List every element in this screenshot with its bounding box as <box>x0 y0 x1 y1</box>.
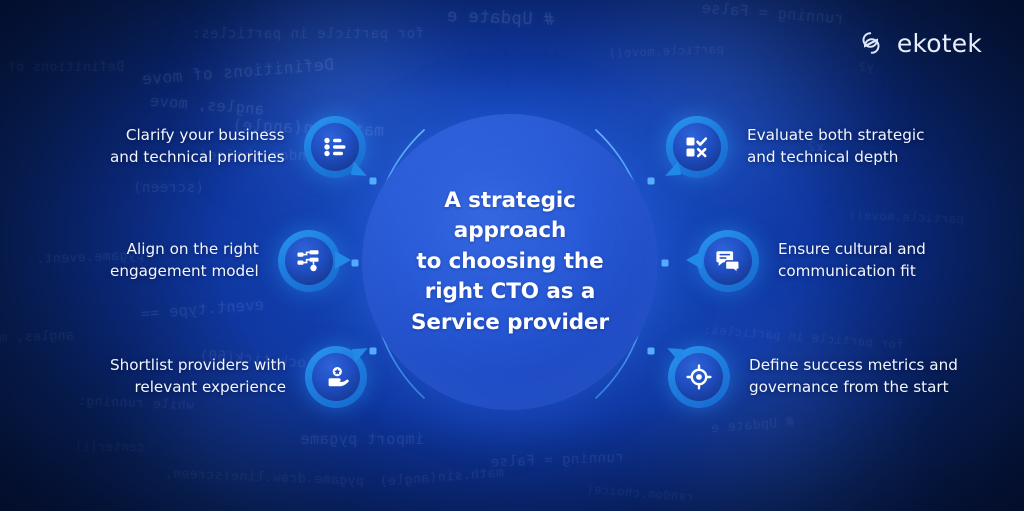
hub-title: A strategic approach to choosing the rig… <box>393 186 628 339</box>
code-fragment: random.choice( <box>585 482 694 504</box>
node-label-cultural-fit: Ensure cultural and communication fit <box>778 239 926 282</box>
badge-inner <box>285 237 333 285</box>
badge-inner <box>675 353 723 401</box>
code-fragment: center[i] <box>74 440 144 454</box>
code-fragment: angles, move <box>0 328 74 347</box>
brand-logo[interactable]: ekotek <box>856 28 982 58</box>
node-success-metrics[interactable]: Define success metrics and governance fr… <box>668 346 958 408</box>
node-label-clarify-priorities: Clarify your business and technical prio… <box>110 125 285 168</box>
code-fragment: import pygame <box>300 430 424 448</box>
badge-tail-left <box>686 251 702 269</box>
node-label-engagement-model: Align on the right engagement model <box>110 239 259 282</box>
code-fragment: particle.move() <box>608 42 724 60</box>
code-fragment: y2 <box>858 60 874 75</box>
center-hub: A strategic approach to choosing the rig… <box>362 114 658 410</box>
code-fragment: event.type == <box>140 295 265 322</box>
node-badge-success-metrics[interactable] <box>668 346 730 408</box>
badge-inner <box>311 123 359 171</box>
badge-tail-top-left <box>665 345 684 362</box>
hub-line-1: A strategic approach <box>393 186 628 247</box>
chat-bubbles-icon <box>715 248 741 274</box>
code-fragment: for particle in particles: <box>192 26 424 42</box>
code-fragment: Definitions of move <box>0 60 124 75</box>
badge-tail-top-right <box>352 345 371 362</box>
badge-tail-bottom-left <box>663 161 682 178</box>
code-fragment: running = False <box>490 449 624 470</box>
code-fragment: angles, move <box>149 92 264 119</box>
node-cultural-fit[interactable]: Ensure cultural and communication fit <box>697 230 926 292</box>
bullet-list-icon <box>322 134 348 160</box>
code-fragment: # Update e <box>710 415 794 436</box>
node-badge-shortlist-providers[interactable] <box>305 346 367 408</box>
badge-inner <box>673 123 721 171</box>
code-fragment: pygame.draw.line(screen, <box>164 466 364 489</box>
checklist-check-cross-icon <box>684 134 710 160</box>
code-fragment: particle.move() <box>848 208 964 226</box>
node-label-shortlist-providers: Shortlist providers with relevant experi… <box>110 355 286 398</box>
node-badge-cultural-fit[interactable] <box>697 230 759 292</box>
brand-name: ekotek <box>897 29 982 58</box>
code-fragment: Definitions of move <box>141 55 334 89</box>
node-evaluate-depth[interactable]: Evaluate both strategic and technical de… <box>666 116 924 178</box>
code-fragment: (screen) <box>133 180 204 196</box>
badge-tail-bottom-right <box>350 161 369 178</box>
sitemap-hierarchy-icon <box>296 248 322 274</box>
code-fragment: running = False <box>701 0 845 27</box>
node-shortlist-providers[interactable]: Shortlist providers with relevant experi… <box>110 346 367 408</box>
node-badge-engagement-model[interactable] <box>278 230 340 292</box>
node-engagement-model[interactable]: Align on the right engagement model <box>110 230 340 292</box>
target-crosshair-icon <box>686 364 712 390</box>
infographic-canvas: running = False# Update efor particle in… <box>0 0 1024 511</box>
ekotek-logo-icon <box>856 28 886 58</box>
hub-line-4: Service provider <box>393 308 628 339</box>
node-label-success-metrics: Define success metrics and governance fr… <box>749 355 958 398</box>
node-badge-clarify-priorities[interactable] <box>304 116 366 178</box>
badge-tail-right <box>335 251 351 269</box>
hub-line-3: right CTO as a <box>393 277 628 308</box>
node-clarify-priorities[interactable]: Clarify your business and technical prio… <box>110 116 366 178</box>
code-fragment: # Update e <box>446 6 554 30</box>
badge-inner <box>312 353 360 401</box>
hand-holding-person-icon <box>323 364 350 391</box>
hub-line-2: to choosing the <box>393 247 628 278</box>
node-badge-evaluate-depth[interactable] <box>666 116 728 178</box>
badge-inner <box>704 237 752 285</box>
code-fragment: math.sin(angle) <box>379 465 505 490</box>
node-label-evaluate-depth: Evaluate both strategic and technical de… <box>747 125 924 168</box>
